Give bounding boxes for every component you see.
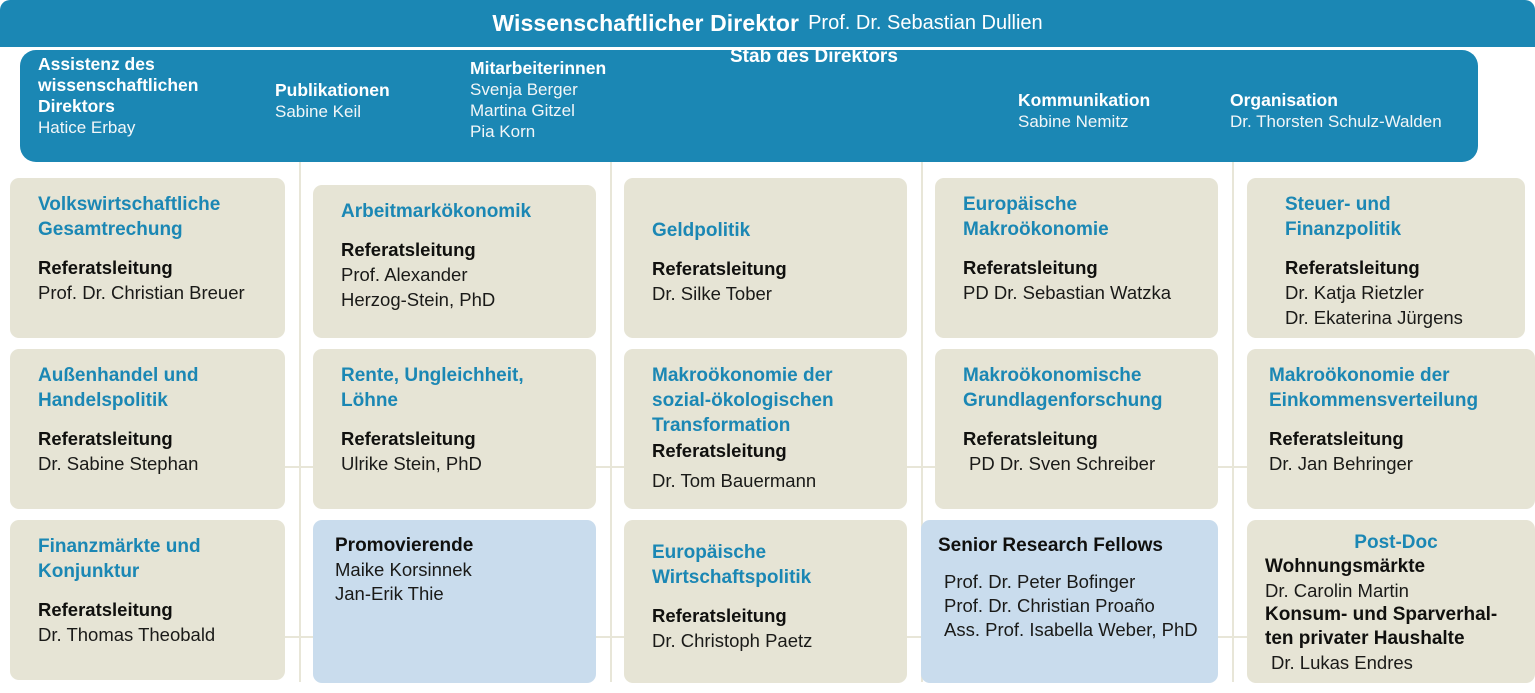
unit-heading-line: Volkswirtschaftliche bbox=[38, 192, 269, 217]
connector-line-horizontal bbox=[1218, 466, 1248, 468]
unit-heading-line: Arbeitmarkökonomik bbox=[341, 199, 580, 224]
group-title: Promovierende bbox=[335, 534, 580, 558]
group-person: Maike Korsinnek bbox=[335, 558, 580, 582]
unit-card-europaeische-wirtschaftspolitik[interactable]: Europäische Wirtschaftspolitik Referatsl… bbox=[624, 520, 907, 683]
staff-title-line: Direktors bbox=[38, 96, 283, 117]
connector-line-horizontal bbox=[596, 636, 626, 638]
unit-heading-line: Transformation bbox=[652, 413, 891, 438]
unit-card-steuer-und-finanzpolitik[interactable]: Steuer- und Finanzpolitik Referatsleitun… bbox=[1247, 178, 1525, 338]
staff-person: Dr. Thorsten Schulz-Walden bbox=[1230, 111, 1520, 132]
group-card-promovierende[interactable]: Promovierende Maike Korsinnek Jan-Erik T… bbox=[313, 520, 596, 683]
staff-cell-publikationen: Publikationen Sabine Keil bbox=[275, 80, 470, 122]
staff-title-line: wissenschaftlichen bbox=[38, 75, 283, 96]
unit-person: Dr. Christoph Paetz bbox=[652, 628, 891, 653]
unit-heading-line: Außenhandel und bbox=[38, 363, 269, 388]
unit-role-label: Referatsleitung bbox=[1269, 426, 1519, 451]
unit-heading-line: Finanzpolitik bbox=[1285, 217, 1509, 242]
group-card-senior-research-fellows[interactable]: Senior Research Fellows Prof. Dr. Peter … bbox=[921, 520, 1218, 683]
connector-line-horizontal bbox=[1218, 636, 1248, 638]
group-person: Prof. Dr. Peter Bofinger bbox=[944, 570, 1202, 594]
unit-heading-line: Wirtschaftspolitik bbox=[652, 565, 891, 590]
connector-line-vertical bbox=[1232, 162, 1234, 682]
spacer bbox=[938, 558, 1202, 570]
unit-person: PD Dr. Sebastian Watzka bbox=[963, 280, 1202, 305]
unit-heading-line: sozial-ökologischen bbox=[652, 388, 891, 413]
unit-role-label: Referatsleitung bbox=[38, 426, 269, 451]
unit-role-label: Referatsleitung bbox=[652, 256, 891, 281]
staff-person: Hatice Erbay bbox=[38, 117, 283, 138]
staff-title-line: Mitarbeiterinnen bbox=[470, 58, 720, 79]
org-chart-root: Wissenschaftlicher Direktor Prof. Dr. Se… bbox=[0, 0, 1535, 693]
staff-panel: Assistenz des wissenschaftlichen Direkto… bbox=[20, 50, 1478, 162]
staff-cell-organisation: Organisation Dr. Thorsten Schulz-Walden bbox=[1230, 90, 1520, 132]
postdoc-topic-line: ten privater Haushalte bbox=[1265, 627, 1527, 651]
unit-person: Dr. Jan Behringer bbox=[1269, 451, 1519, 476]
group-person: Jan-Erik Thie bbox=[335, 582, 580, 606]
director-name: Prof. Dr. Sebastian Dullien bbox=[808, 12, 1043, 35]
unit-card-makrooekonomie-einkommensverteilung[interactable]: Makroökonomie der Einkommensverteilung R… bbox=[1247, 349, 1535, 509]
unit-card-makrooekonomie-sozial-oekologische-transformation[interactable]: Makroökonomie der sozial-ökologischen Tr… bbox=[624, 349, 907, 509]
connector-line-horizontal bbox=[907, 466, 937, 468]
unit-heading-line: Konjunktur bbox=[38, 559, 269, 584]
staff-cell-assistenz: Assistenz des wissenschaftlichen Direkto… bbox=[38, 54, 283, 138]
postdoc-person: Dr. Carolin Martin bbox=[1265, 579, 1527, 603]
unit-person: Dr. Ekaterina Jürgens bbox=[1285, 305, 1509, 330]
unit-person: Dr. Tom Bauermann bbox=[652, 468, 891, 493]
director-header: Wissenschaftlicher Direktor Prof. Dr. Se… bbox=[0, 0, 1535, 47]
unit-card-makrooekonomische-grundlagenforschung[interactable]: Makroökonomische Grundlagenforschung Ref… bbox=[935, 349, 1218, 509]
group-person: Prof. Dr. Christian Proaño bbox=[944, 594, 1202, 618]
unit-heading-line: Europäische bbox=[652, 540, 891, 565]
connector-line-vertical bbox=[299, 162, 301, 682]
unit-card-aussenhandel-und-handelspolitik[interactable]: Außenhandel und Handelspolitik Referatsl… bbox=[10, 349, 285, 509]
unit-heading-line: Finanzmärkte und bbox=[38, 534, 269, 559]
unit-card-volkswirtschaftliche-gesamtrechung[interactable]: Volkswirtschaftliche Gesamtrechung Refer… bbox=[10, 178, 285, 338]
unit-person: Prof. Dr. Christian Breuer bbox=[38, 280, 269, 305]
unit-card-europaeische-makrooekonomie[interactable]: Europäische Makroökonomie Referatsleitun… bbox=[935, 178, 1218, 338]
staff-title-line: Organisation bbox=[1230, 90, 1520, 111]
postdoc-heading: Post-Doc bbox=[1265, 530, 1527, 555]
postdoc-card[interactable]: Post-Doc Wohnungsmärkte Dr. Carolin Mart… bbox=[1247, 520, 1535, 683]
unit-person: Dr. Katja Rietzler bbox=[1285, 280, 1509, 305]
unit-heading-line: Geldpolitik bbox=[652, 218, 891, 243]
unit-heading-line: Grundlagenforschung bbox=[963, 388, 1202, 413]
staff-person: Martina Gitzel bbox=[470, 100, 720, 121]
unit-heading-line: Rente, Ungleichheit, bbox=[341, 363, 580, 388]
connector-line-horizontal bbox=[596, 466, 626, 468]
unit-role-label: Referatsleitung bbox=[652, 603, 891, 628]
postdoc-person: Dr. Lukas Endres bbox=[1271, 651, 1527, 675]
unit-heading-line: Makroökonomische bbox=[963, 363, 1202, 388]
unit-role-label: Referatsleitung bbox=[38, 597, 269, 622]
unit-card-rente-ungleichheit-loehne[interactable]: Rente, Ungleichheit, Löhne Referatsleitu… bbox=[313, 349, 596, 509]
unit-heading-line: Löhne bbox=[341, 388, 580, 413]
unit-heading-line: Makroökonomie der bbox=[1269, 363, 1519, 388]
staff-cell-kommunikation: Kommunikation Sabine Nemitz bbox=[1018, 90, 1223, 132]
unit-role-label: Referatsleitung bbox=[1285, 255, 1509, 280]
staff-person: Pia Korn bbox=[470, 121, 720, 142]
unit-heading-line: Makroökonomie der bbox=[652, 363, 891, 388]
staff-person: Svenja Berger bbox=[470, 79, 720, 100]
unit-heading-line: Makroökonomie bbox=[963, 217, 1202, 242]
group-title: Senior Research Fellows bbox=[938, 534, 1202, 558]
director-title: Wissenschaftlicher Direktor bbox=[492, 10, 799, 37]
unit-heading-line: Handelspolitik bbox=[38, 388, 269, 413]
staff-section-label-text: Stab des Direktors bbox=[730, 46, 1010, 67]
connector-line-horizontal bbox=[285, 466, 315, 468]
postdoc-topic-line: Konsum- und Sparverhal- bbox=[1265, 603, 1527, 627]
staff-person: Sabine Keil bbox=[275, 101, 470, 122]
unit-heading-line: Einkommensverteilung bbox=[1269, 388, 1519, 413]
unit-person: Herzog-Stein, PhD bbox=[341, 287, 580, 312]
unit-heading-line: Gesamtrechung bbox=[38, 217, 269, 242]
unit-role-label: Referatsleitung bbox=[652, 438, 891, 463]
staff-title-line: Kommunikation bbox=[1018, 90, 1223, 111]
connector-line-horizontal bbox=[285, 636, 315, 638]
unit-heading-line: Steuer- und bbox=[1285, 192, 1509, 217]
staff-title-line: Assistenz des bbox=[38, 54, 283, 75]
group-person: Ass. Prof. Isabella Weber, PhD bbox=[944, 618, 1202, 642]
staff-title-line: Publikationen bbox=[275, 80, 470, 101]
unit-person: Prof. Alexander bbox=[341, 262, 580, 287]
staff-section-label: Stab des Direktors bbox=[730, 46, 1010, 67]
postdoc-topic: Wohnungsmärkte bbox=[1265, 555, 1527, 579]
connector-line-vertical bbox=[610, 162, 612, 682]
unit-person: Ulrike Stein, PhD bbox=[341, 451, 580, 476]
unit-heading-line: Europäische bbox=[963, 192, 1202, 217]
staff-cell-mitarbeiterinnen: Mitarbeiterinnen Svenja Berger Martina G… bbox=[470, 58, 720, 142]
unit-person: PD Dr. Sven Schreiber bbox=[969, 451, 1202, 476]
unit-person: Dr. Silke Tober bbox=[652, 281, 891, 306]
unit-role-label: Referatsleitung bbox=[963, 426, 1202, 451]
unit-card-finanzmaerkte-und-konjunktur[interactable]: Finanzmärkte und Konjunktur Referatsleit… bbox=[10, 520, 285, 680]
unit-role-label: Referatsleitung bbox=[38, 255, 269, 280]
unit-person: Dr. Thomas Theobald bbox=[38, 622, 269, 647]
unit-card-geldpolitik[interactable]: Geldpolitik Referatsleitung Dr. Silke To… bbox=[624, 178, 907, 338]
unit-role-label: Referatsleitung bbox=[341, 237, 580, 262]
unit-person: Dr. Sabine Stephan bbox=[38, 451, 269, 476]
unit-role-label: Referatsleitung bbox=[963, 255, 1202, 280]
unit-role-label: Referatsleitung bbox=[341, 426, 580, 451]
unit-card-arbeitmarkoekonomik[interactable]: Arbeitmarkökonomik Referatsleitung Prof.… bbox=[313, 185, 596, 338]
staff-person: Sabine Nemitz bbox=[1018, 111, 1223, 132]
